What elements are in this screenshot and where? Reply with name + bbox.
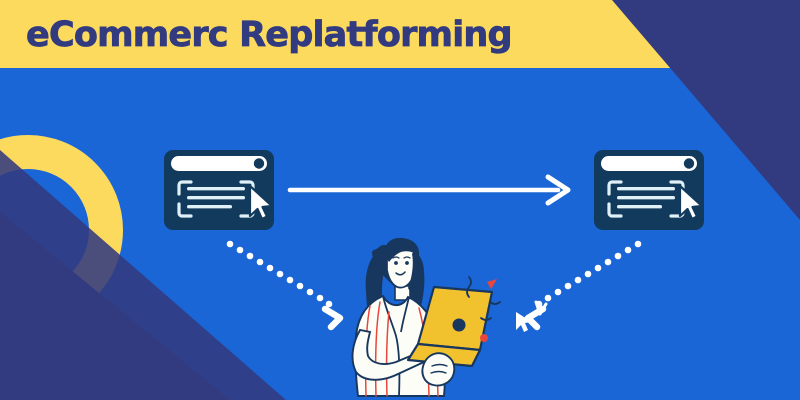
ecommerce-replatforming-banner: eCommerc Replatforming: [0, 0, 800, 400]
dot: [545, 295, 552, 302]
source-window-titlebar-dot: [254, 158, 264, 168]
eye-right: [405, 261, 409, 265]
dot: [297, 283, 304, 290]
target-content-line-2: [617, 196, 675, 199]
artwork-layer: [0, 0, 800, 400]
dot: [227, 241, 234, 248]
squiggle-accent-mid-2: [490, 302, 500, 304]
target-window-titlebar: [601, 156, 697, 171]
target-content-line-3: [617, 205, 662, 208]
dot: [257, 259, 264, 266]
red-triangle-accent: [487, 279, 497, 289]
dot: [575, 277, 582, 284]
dot: [605, 259, 612, 266]
dot: [307, 289, 314, 296]
dot: [625, 247, 632, 254]
eye-left: [394, 261, 398, 265]
source-content-line-1: [187, 187, 245, 190]
dotted-arrow-right: [528, 241, 641, 327]
browser-window-icon-source[interactable]: [164, 150, 274, 230]
source-content-line-3: [187, 205, 232, 208]
dot: [565, 283, 572, 290]
dot: [555, 289, 562, 296]
laptop-screen-dot: [453, 319, 466, 332]
dotted-arrow-left: [227, 241, 340, 327]
target-window-titlebar-dot: [684, 158, 694, 168]
dot: [595, 265, 602, 272]
red-dot-accent: [480, 334, 488, 342]
dot: [277, 271, 284, 278]
dot: [585, 271, 592, 278]
dot: [635, 241, 642, 248]
dot: [247, 253, 254, 260]
source-content-line-2: [187, 196, 245, 199]
source-window-titlebar: [171, 156, 267, 171]
dotted-arrow-left-head: [325, 309, 340, 327]
dot: [615, 253, 622, 260]
migration-arrow: [290, 177, 568, 203]
target-content-line-1: [617, 187, 675, 190]
browser-window-icon-target[interactable]: [594, 150, 704, 230]
dot: [237, 247, 244, 254]
dot: [267, 265, 274, 272]
dot: [317, 295, 324, 302]
hand-right: [422, 353, 454, 385]
dot: [287, 277, 294, 284]
woman-with-laptop: [353, 238, 546, 396]
